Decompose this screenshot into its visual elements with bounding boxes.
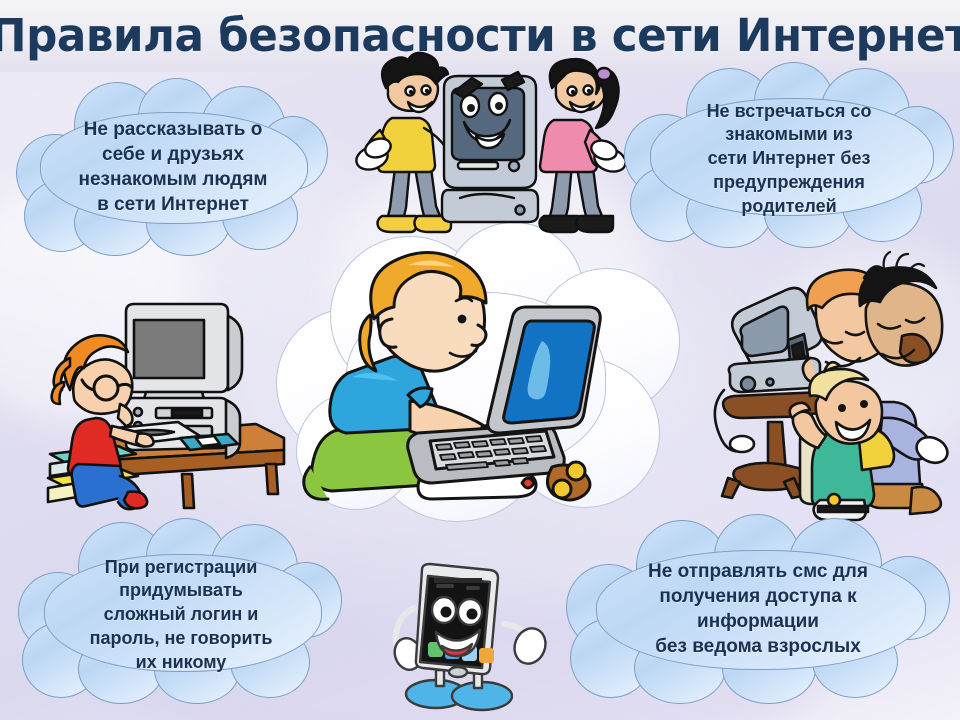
bubble-text-bottom-right: Не отправлять смс для получения доступа … [600,542,916,676]
illustration-family-at-computer [706,262,958,514]
bubble-text-top-right: Не встречаться со знакомыми из сети Инте… [658,86,920,232]
bubble-bottom-right: Не отправлять смс для получения доступа … [566,514,950,704]
bubble-top-right: Не встречаться со знакомыми из сети Инте… [624,62,954,248]
page-title: Правила безопасности в сети Интернет [14,4,945,66]
bubble-text-bottom-left: При регистрации придумывать сложный логи… [48,542,314,688]
bubble-top-left: Не рассказывать о себе и друзьях незнако… [16,78,328,256]
illustration-smartphone-character [378,562,544,718]
illustration-boy-at-desk [34,286,284,508]
bubble-text-top-left: Не рассказывать о себе и друзьях незнако… [44,108,302,226]
bubble-bottom-left: При регистрации придумывать сложный логи… [18,518,342,704]
poster-canvas: Правила безопасности в сети Интернет [0,0,960,720]
illustration-boy-with-laptop [290,245,670,520]
illustration-kids-with-computer [352,58,624,236]
